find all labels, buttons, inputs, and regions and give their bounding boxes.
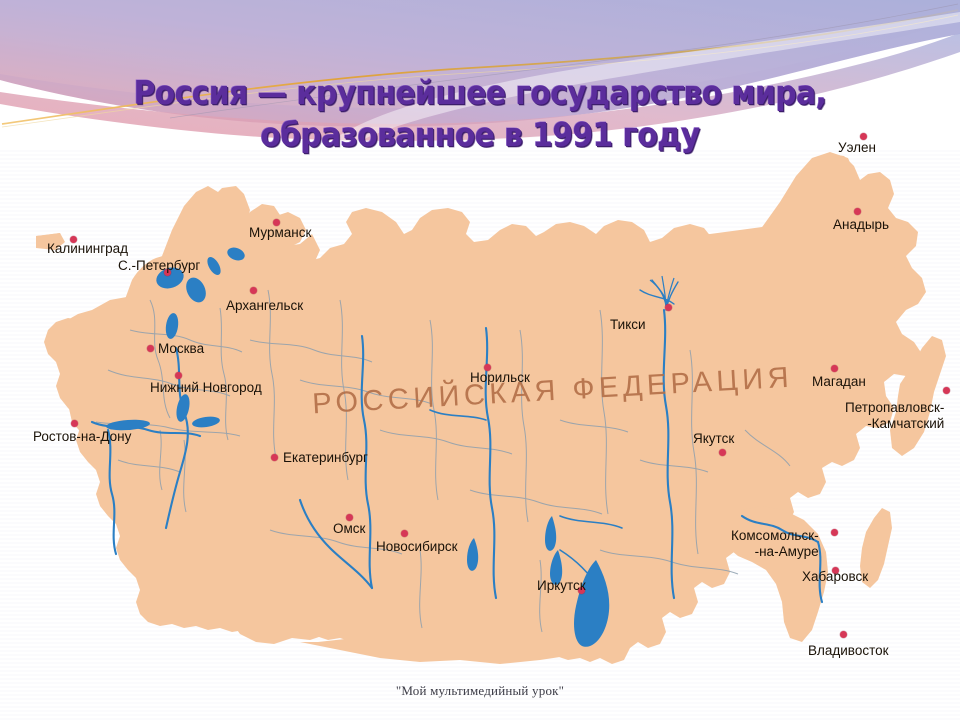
russia-map (0, 130, 960, 670)
city-dot (831, 365, 838, 372)
city-label: Якутск (693, 431, 734, 446)
city-label: Магадан (812, 374, 866, 389)
footer-caption-text: "Мой мультимедийный урок" (396, 683, 564, 698)
slide-title: Россия — крупнейшее государство мира, об… (0, 72, 960, 156)
city-label: Нижний Новгород (150, 380, 262, 395)
city-label-line: Норильск (470, 370, 530, 385)
city-dot (831, 529, 838, 536)
city-dot (854, 208, 861, 215)
city-label: Ростов-на-Дону (33, 429, 131, 444)
city-dot (401, 530, 408, 537)
city-label: Омск (333, 521, 365, 536)
city-label: Архангельск (226, 298, 303, 313)
city-label-line: Уэлен (838, 140, 876, 155)
city-label: Владивосток (808, 643, 889, 658)
city-dot (175, 372, 182, 379)
city-dot (250, 287, 257, 294)
city-label: С.-Петербург (118, 258, 200, 273)
city-dot (271, 454, 278, 461)
city-label: Екатеринбург (283, 450, 368, 465)
city-label-line: Ростов-на-Дону (33, 429, 131, 444)
city-label-line: Владивосток (808, 643, 889, 658)
city-label: Иркутск (537, 578, 586, 593)
city-label-line: Новосибирск (376, 539, 458, 554)
city-dot (719, 449, 726, 456)
city-label-line: С.-Петербург (118, 258, 200, 273)
city-label: Новосибирск (376, 539, 458, 554)
city-label-line: Екатеринбург (283, 450, 368, 465)
city-label: Комсомольск--на-Амуре (731, 528, 819, 560)
city-label-line: Омск (333, 521, 365, 536)
city-label-line: Петропавловск- (845, 400, 944, 416)
city-label: Москва (158, 341, 204, 356)
city-label-line: Архангельск (226, 298, 303, 313)
city-label-line: Иркутск (537, 578, 586, 593)
footer-caption: "Мой мультимедийный урок" (0, 682, 960, 700)
city-label-line: -на-Амуре (731, 544, 819, 560)
city-label-line: Хабаровск (802, 569, 868, 584)
city-dot (346, 514, 353, 521)
city-label-line: -Камчатский (845, 416, 944, 432)
city-label-line: Якутск (693, 431, 734, 446)
city-label: Норильск (470, 370, 530, 385)
city-label-line: Нижний Новгород (150, 380, 262, 395)
city-dot (943, 387, 950, 394)
city-dot (665, 304, 672, 311)
presentation-slide: Россия — крупнейшее государство мира, об… (0, 0, 960, 720)
city-label: Тикси (610, 317, 646, 332)
city-label: Хабаровск (802, 569, 868, 584)
city-label-line: Москва (158, 341, 204, 356)
city-dot (71, 420, 78, 427)
city-dot (860, 133, 867, 140)
city-label-line: Магадан (812, 374, 866, 389)
city-label: Уэлен (838, 140, 876, 155)
city-label-line: Анадырь (833, 217, 889, 232)
city-label-line: Комсомольск- (731, 528, 819, 544)
title-line-1: Россия — крупнейшее государство мира, (48, 72, 912, 114)
city-label: Мурманск (249, 225, 311, 240)
title-line-2: образованное в 1991 году (48, 114, 912, 156)
city-dot (147, 345, 154, 352)
city-dot (840, 631, 847, 638)
city-label: Анадырь (833, 217, 889, 232)
city-label-line: Калининград (47, 241, 128, 256)
city-label-line: Мурманск (249, 225, 311, 240)
city-label-line: Тикси (610, 317, 646, 332)
city-label: Калининград (47, 241, 128, 256)
city-label: Петропавловск--Камчатский (845, 400, 944, 432)
